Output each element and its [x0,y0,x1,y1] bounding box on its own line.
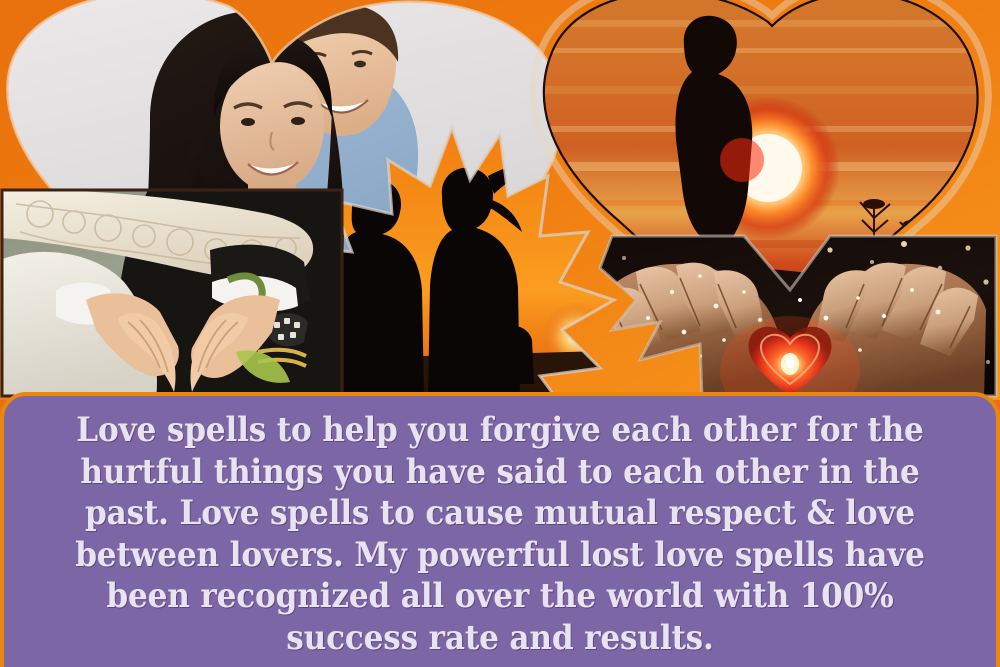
quote-line: past. Love spells to cause mutual respec… [68,492,933,534]
banner-image: Love spells to help you forgive each oth… [0,0,1000,667]
quote-line: between lovers. My powerful lost love sp… [68,534,933,576]
wedding-hands-panel [0,186,346,400]
quote-line: success rate and results. [68,617,933,659]
quote-line: hurtful things you have said to each oth… [68,451,933,493]
quote-line: been recognized all over the world with … [68,575,933,617]
quote-line: Love spells to help you forgive each oth… [68,409,933,451]
quote-text: Love spells to help you forgive each oth… [68,405,933,658]
collage-graphic [0,0,1000,400]
quote-panel: Love spells to help you forgive each oth… [0,392,1000,667]
love-collage [0,0,1000,400]
